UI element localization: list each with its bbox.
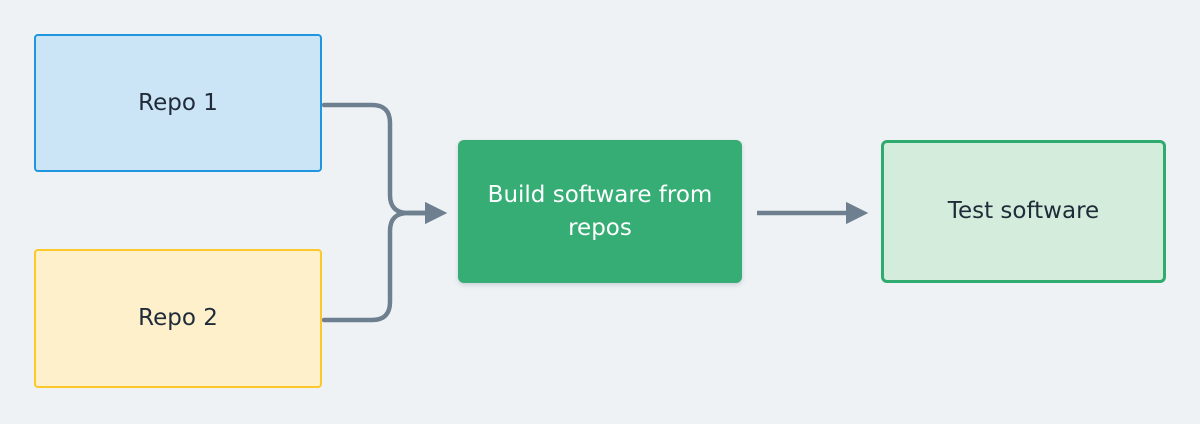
node-repo-1-label: Repo 1 [36,87,320,120]
node-test-software-label: Test software [884,195,1163,228]
node-repo-1[interactable]: Repo 1 [34,34,322,172]
node-build-software-label: Build software from repos [458,179,742,244]
edge-repo-2-to-build [324,213,440,320]
node-test-software[interactable]: Test software [881,140,1166,283]
node-repo-2-label: Repo 2 [36,302,320,335]
edge-repo-1-to-build [324,105,440,213]
node-repo-2[interactable]: Repo 2 [34,249,322,388]
diagram-canvas: Repo 1 Repo 2 Build software from repos … [0,0,1200,424]
node-build-software[interactable]: Build software from repos [458,140,742,283]
